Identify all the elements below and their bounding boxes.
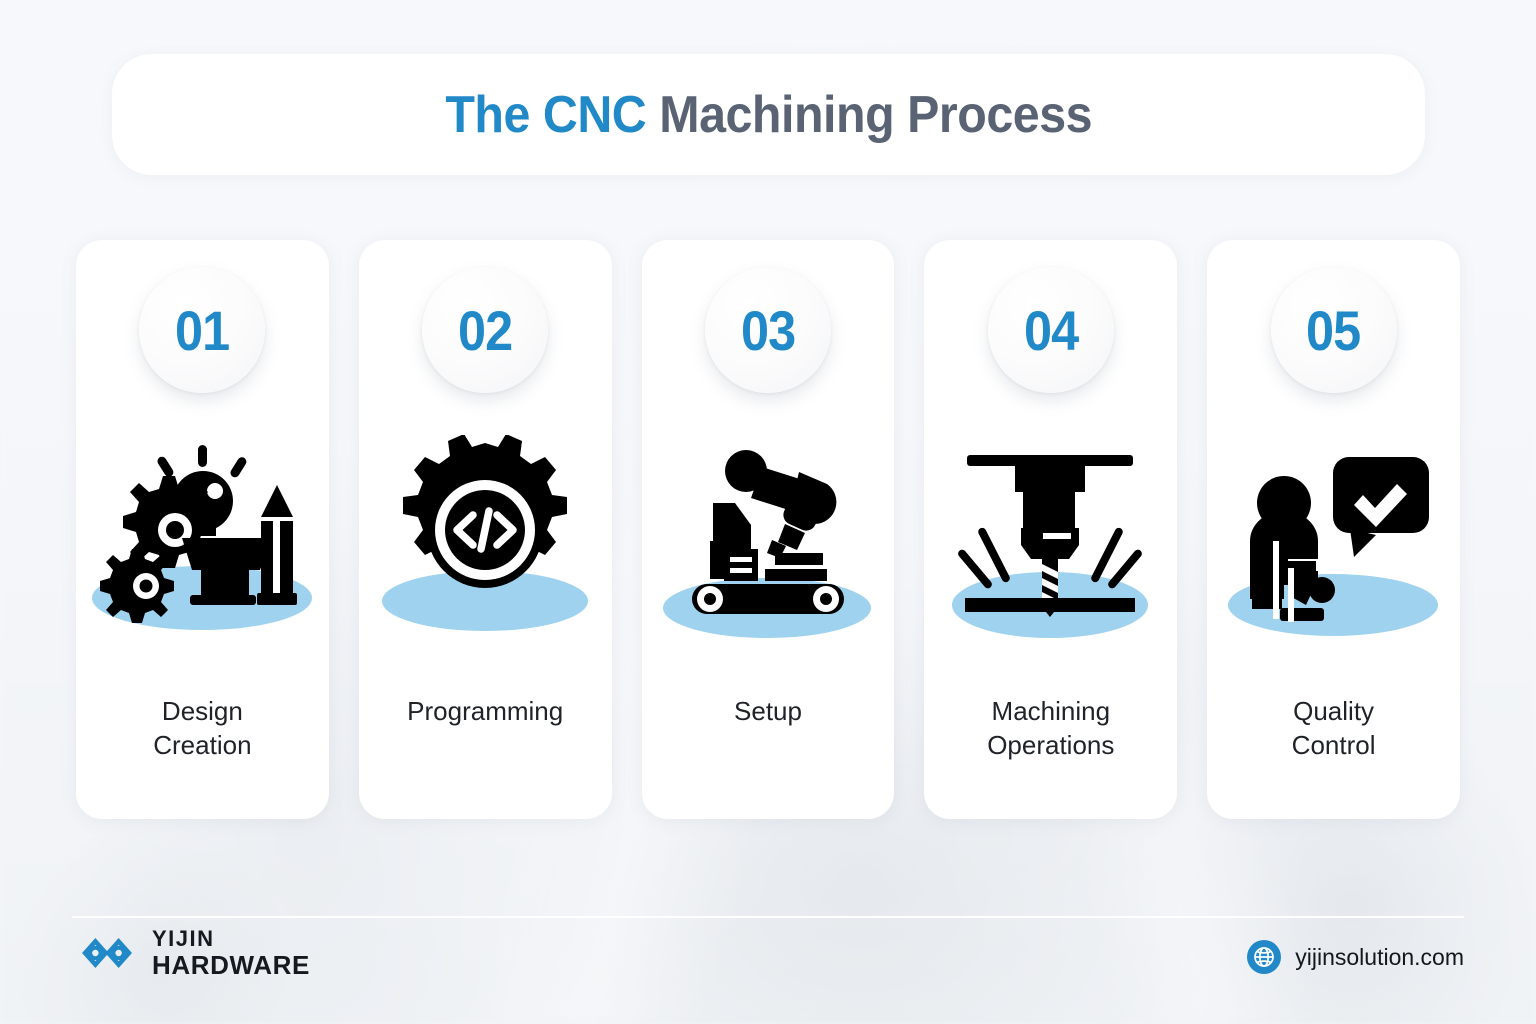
step-number: 02 xyxy=(458,298,512,363)
step-label: Programming xyxy=(369,695,602,729)
inspector-check-icon xyxy=(1207,425,1460,645)
brand-name-line2: HARDWARE xyxy=(152,952,310,978)
step-card-machining-operations[interactable]: 04 xyxy=(924,240,1177,819)
page-title-rest: Machining Process xyxy=(646,86,1092,144)
globe-icon xyxy=(1247,940,1281,974)
footer-divider xyxy=(72,916,1464,918)
step-label: Machining Operations xyxy=(934,695,1167,763)
step-card-design-creation[interactable]: 01 xyxy=(76,240,329,819)
step-number: 05 xyxy=(1306,298,1360,363)
step-label: Design Creation xyxy=(86,695,319,763)
step-number-badge: 05 xyxy=(1271,267,1397,393)
step-number-badge: 02 xyxy=(422,267,548,393)
infographic-stage: The CNC Machining Process 01 xyxy=(0,0,1536,1024)
step-number-badge: 04 xyxy=(988,267,1114,393)
gear-code-icon xyxy=(359,425,612,645)
step-label: Setup xyxy=(652,695,885,729)
step-card-setup[interactable]: 03 xyxy=(642,240,895,819)
website-url: yijinsolution.com xyxy=(1295,944,1464,971)
brand-logo[interactable]: YIJIN HARDWARE xyxy=(76,928,310,978)
page-title: The CNC Machining Process xyxy=(445,85,1092,145)
gears-lightbulb-pencil-icon xyxy=(76,425,329,645)
brand-name-line1: YIJIN xyxy=(152,928,310,950)
process-steps-row: 01 xyxy=(76,240,1460,819)
step-number-badge: 01 xyxy=(139,267,265,393)
robot-arm-conveyor-icon xyxy=(642,425,895,645)
step-number: 04 xyxy=(1024,298,1078,363)
step-card-quality-control[interactable]: 05 xyxy=(1207,240,1460,819)
page-title-accent: The CNC xyxy=(445,86,646,144)
step-number-badge: 03 xyxy=(705,267,831,393)
step-number: 03 xyxy=(741,298,795,363)
cnc-drill-icon xyxy=(924,425,1177,645)
title-card: The CNC Machining Process xyxy=(112,54,1425,175)
brand-wordmark: YIJIN HARDWARE xyxy=(152,928,310,978)
step-card-programming[interactable]: 02 Progra xyxy=(359,240,612,819)
website-link[interactable]: yijinsolution.com xyxy=(1247,940,1464,974)
step-number: 01 xyxy=(175,298,229,363)
infinity-logo-icon xyxy=(76,931,138,975)
step-label: Quality Control xyxy=(1217,695,1450,763)
